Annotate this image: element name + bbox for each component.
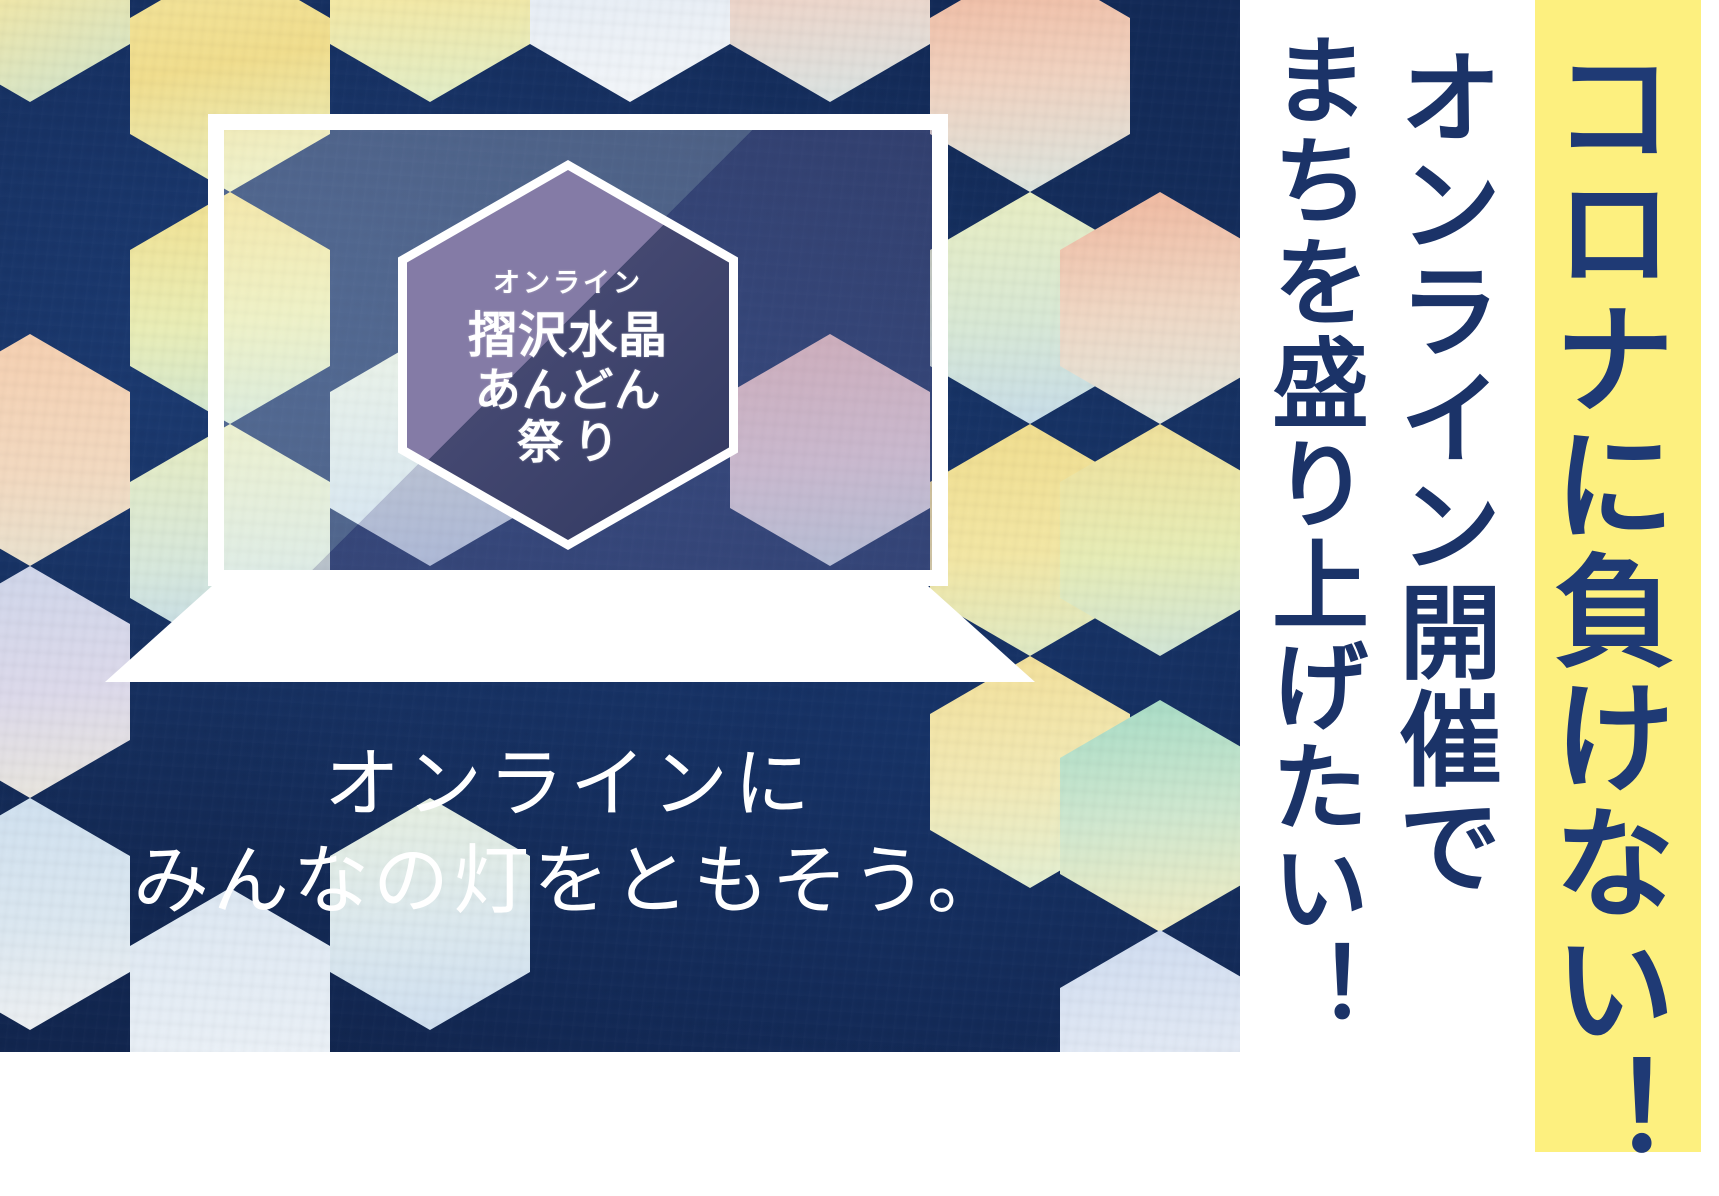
logo-line-1: 摺沢水晶 bbox=[468, 311, 668, 361]
logo-text-group: オンライン 摺沢水晶 あんどん 祭り bbox=[398, 160, 738, 550]
tagline-line-2: みんなの灯をともそう。 bbox=[0, 832, 1140, 929]
headline-column-left: まちを盛り上げたい！ bbox=[1262, 0, 1382, 1182]
headline-column-middle: オンライン開催で bbox=[1390, 0, 1516, 1196]
logo-line-2: あんどん bbox=[475, 367, 662, 414]
logo-prefix: オンライン bbox=[493, 270, 643, 297]
headline-column-right: コロナに負けない！ bbox=[1543, 0, 1693, 1196]
tagline: オンラインに みんなの灯をともそう。 bbox=[0, 735, 1140, 930]
poster-root: オンライン 摺沢水晶 あんどん 祭り オンラインに みんなの灯をともそう。 まち… bbox=[0, 0, 1719, 1152]
logo-line-3: 祭り bbox=[507, 419, 629, 466]
headline-panel: まちを盛り上げたい！ オンライン開催で コロナに負けない！ bbox=[1240, 0, 1719, 1152]
festival-logo: オンライン 摺沢水晶 あんどん 祭り bbox=[398, 160, 738, 550]
artwork-panel: オンライン 摺沢水晶 あんどん 祭り オンラインに みんなの灯をともそう。 bbox=[0, 0, 1240, 1052]
tagline-line-1: オンラインに bbox=[0, 735, 1140, 832]
